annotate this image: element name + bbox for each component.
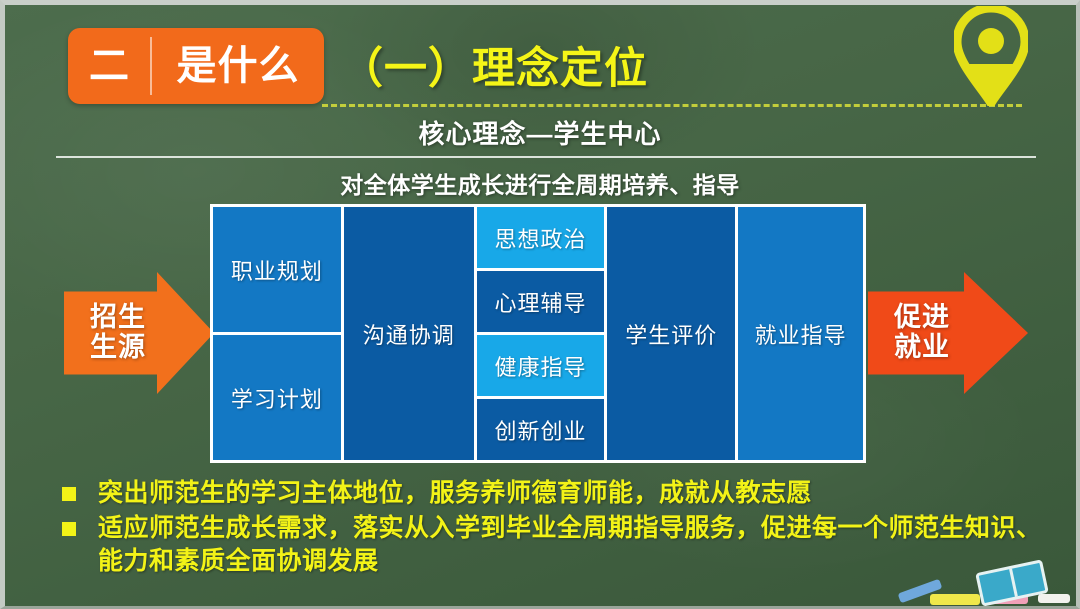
diagram-cell[interactable]: 就业指导 <box>738 207 863 460</box>
list-item: 突出师范生的学习主体地位，服务养师德育师能，成就从教志愿 <box>62 477 1050 510</box>
output-arrow-line2: 就业 <box>894 333 950 363</box>
header-dashed-rule <box>322 104 1022 107</box>
slide-canvas: 二 是什么 （一）理念定位 核心理念—学生中心 对全体学生成长进行全周期培养、指… <box>0 0 1080 609</box>
diagram-cell[interactable]: 心理辅导 <box>477 271 605 332</box>
bullet-text: 突出师范生的学习主体地位，服务养师德育师能，成就从教志愿 <box>98 477 812 510</box>
diagram-cell[interactable]: 职业规划 <box>213 207 341 332</box>
diagram-cell[interactable]: 沟通协调 <box>344 207 474 460</box>
diagram-cell[interactable]: 健康指导 <box>477 335 605 396</box>
chalk-white-icon <box>1038 594 1070 603</box>
diagram-cell[interactable]: 思想政治 <box>477 207 605 268</box>
location-pin-icon <box>954 6 1028 106</box>
section-word: 是什么 <box>152 46 324 86</box>
eraser-divider <box>1009 569 1018 597</box>
diagram-column-support: 思想政治 心理辅导 健康指导 创新创业 <box>477 207 605 460</box>
section-number: 二 <box>68 46 150 86</box>
section-badge[interactable]: 二 是什么 <box>68 28 324 104</box>
output-arrow-line1: 促进 <box>894 303 950 333</box>
diagram-cell[interactable]: 学生评价 <box>607 207 735 460</box>
process-diagram: 职业规划 学习计划 沟通协调 思想政治 心理辅导 健康指导 创新创业 学生评价 … <box>210 204 866 463</box>
diagram-column-evaluation: 学生评价 <box>607 207 735 460</box>
bullet-square-icon <box>62 522 76 536</box>
diagram-column-communication: 沟通协调 <box>344 207 474 460</box>
input-arrow-line1: 招生 <box>90 303 146 333</box>
diagram-column-employment: 就业指导 <box>738 207 863 460</box>
bullet-list: 突出师范生的学习主体地位，服务养师德育师能，成就从教志愿 适应师范生成长需求，落… <box>62 477 1050 580</box>
page-title: （一）理念定位 <box>340 34 648 96</box>
diagram-cell[interactable]: 创新创业 <box>477 399 605 460</box>
diagram-column-planning: 职业规划 学习计划 <box>213 207 341 460</box>
core-concept-title: 核心理念—学生中心 <box>0 114 1080 151</box>
horizontal-rule <box>56 156 1036 158</box>
input-arrow-line2: 生源 <box>90 333 146 363</box>
diagram-cell[interactable]: 学习计划 <box>213 335 341 460</box>
bullet-square-icon <box>62 487 76 501</box>
bullet-text: 适应师范生成长需求，落实从入学到毕业全周期指导服务，促进每一个师范生知识、能力和… <box>98 512 1050 578</box>
chalk-yellow-icon <box>930 594 980 605</box>
list-item: 适应师范生成长需求，落实从入学到毕业全周期指导服务，促进每一个师范生知识、能力和… <box>62 512 1050 578</box>
core-concept-subtitle: 对全体学生成长进行全周期培养、指导 <box>0 166 1080 200</box>
